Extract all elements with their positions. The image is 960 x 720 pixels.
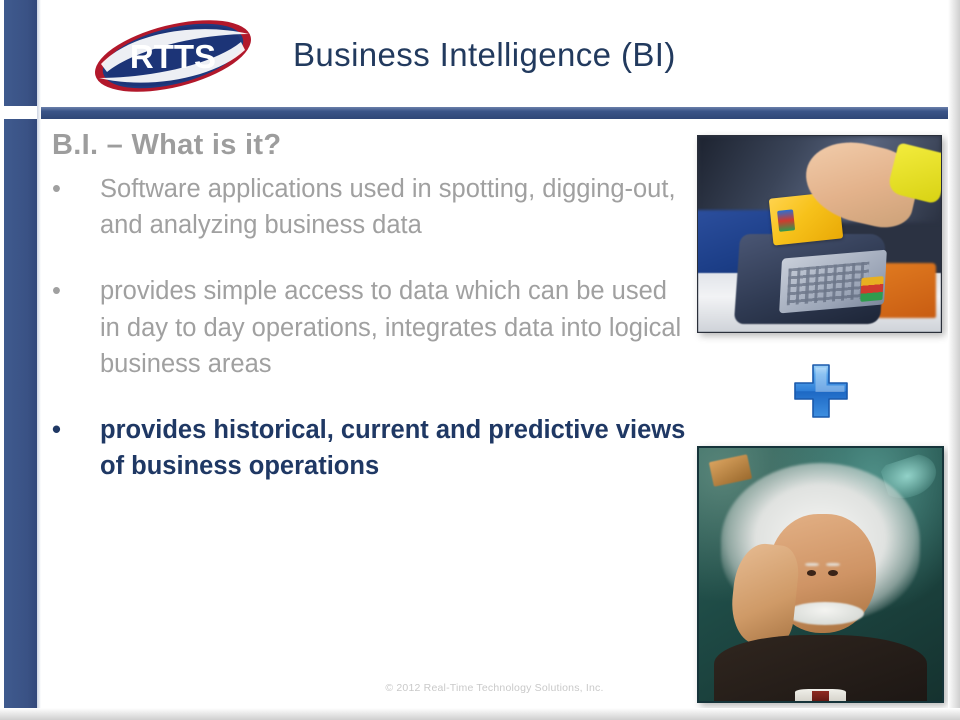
eye-right [828,570,838,576]
card-terminal-color-keys [860,276,883,301]
eyebrow-right [826,563,840,567]
bullet-item-2: • provides simple access to data which c… [41,273,691,382]
header-title: Business Intelligence (BI) [293,36,676,74]
rtts-logo: RTTS [89,20,257,92]
header-divider-bar [41,107,948,119]
bullet-item-1: • Software applications used in spotting… [41,171,691,243]
presentation-slide: RTTS Business Intelligence (BI) B.I. – W… [0,0,960,720]
credit-card-terminal-photo [697,135,942,333]
sidebar-notch [4,106,37,119]
plus-symbol-icon [791,361,851,421]
photo-orange-object [878,263,936,318]
einstein-portrait-photo [697,446,944,703]
bullet-text: provides simple access to data which can… [100,277,681,377]
card-terminal-keys [787,262,870,306]
bullet-marker-icon: • [52,412,61,448]
logo-wordmark: RTTS [130,38,216,75]
eyebrow-left [805,563,819,567]
bullet-marker-icon: • [52,273,61,309]
einstein-suit [714,635,928,701]
slide-heading: B.I. – What is it? [52,129,281,162]
slide-frame-right [948,0,960,720]
bullet-text: provides historical, current and predict… [100,416,685,480]
slide-frame-bottom [0,708,960,720]
bullet-text: Software applications used in spotting, … [100,175,676,239]
einstein-mustache [786,602,864,625]
einstein-tie [812,691,829,701]
bullet-item-3: • provides historical, current and predi… [41,412,691,484]
credit-card-chip [777,209,795,231]
eye-left [807,570,817,576]
bullet-marker-icon: • [52,171,61,207]
slide-header: RTTS Business Intelligence (BI) [41,0,948,107]
bullet-list: • Software applications used in spotting… [41,171,691,514]
